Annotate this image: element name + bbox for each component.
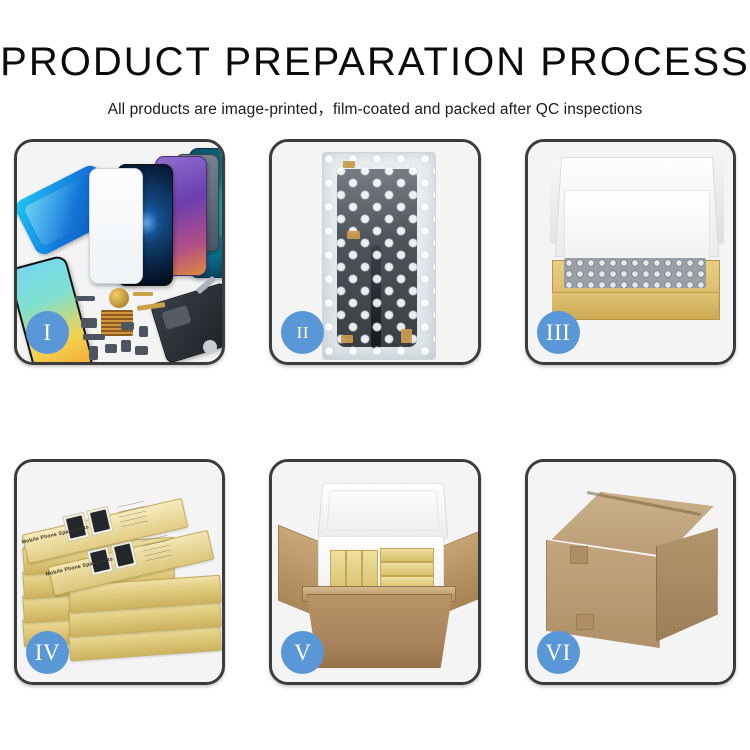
small-part <box>105 344 117 353</box>
small-part <box>135 346 148 355</box>
small-part <box>121 340 131 352</box>
step-panel-4[interactable]: Mobile Phone Spare Parts ———————— ——————… <box>14 459 225 685</box>
foam-cooler-lid <box>318 483 449 539</box>
tape-piece <box>401 329 412 343</box>
step-badge-4: IV <box>26 631 69 674</box>
bubble-wrap-bag <box>322 152 436 360</box>
kraft-box-front <box>552 292 718 319</box>
step-panel-5[interactable]: V <box>269 459 480 685</box>
step-badge-3: III <box>537 311 580 354</box>
white-foam-sheet <box>564 190 710 268</box>
small-part <box>139 326 148 337</box>
step-badge-1: I <box>26 311 69 354</box>
carton-side <box>656 528 718 642</box>
tape-piece <box>347 231 360 239</box>
product-preparation-infographic: PRODUCT PREPARATION PROCESS All products… <box>0 0 750 750</box>
bubble-wrap-fill <box>564 258 706 288</box>
carton-body <box>306 594 452 668</box>
carton-tape <box>570 546 588 564</box>
step-panel-3[interactable]: III <box>525 139 736 365</box>
step-badge-6: VI <box>537 631 580 674</box>
header: PRODUCT PREPARATION PROCESS All products… <box>0 0 750 119</box>
page-title: PRODUCT PREPARATION PROCESS <box>0 42 750 82</box>
tape-piece <box>341 335 353 343</box>
tempered-glass-sheet <box>89 168 143 284</box>
box-window <box>86 506 113 536</box>
small-part <box>121 322 134 330</box>
step-panel-6[interactable]: VI <box>525 459 736 685</box>
page-subtitle: All products are image-printed，film-coat… <box>0 97 750 119</box>
step-panel-2[interactable]: II <box>269 139 480 365</box>
carton-tape <box>576 614 594 630</box>
bubble-texture <box>323 153 435 359</box>
speaker-module <box>109 288 129 308</box>
step-panel-1[interactable]: I <box>14 139 225 365</box>
kraft-box-inside <box>380 548 434 562</box>
screw-set <box>203 340 217 354</box>
small-part <box>81 318 97 328</box>
small-part <box>75 296 95 301</box>
process-row-bottom: Mobile Phone Spare Parts ———————— ——————… <box>14 459 736 685</box>
flex-cable <box>133 292 153 296</box>
small-part <box>83 334 105 340</box>
small-part <box>89 346 98 360</box>
tape-piece <box>343 161 355 168</box>
kraft-box-inside <box>380 562 434 576</box>
process-steps-grid: I II <box>14 139 736 685</box>
process-row-top: I II <box>14 139 736 365</box>
